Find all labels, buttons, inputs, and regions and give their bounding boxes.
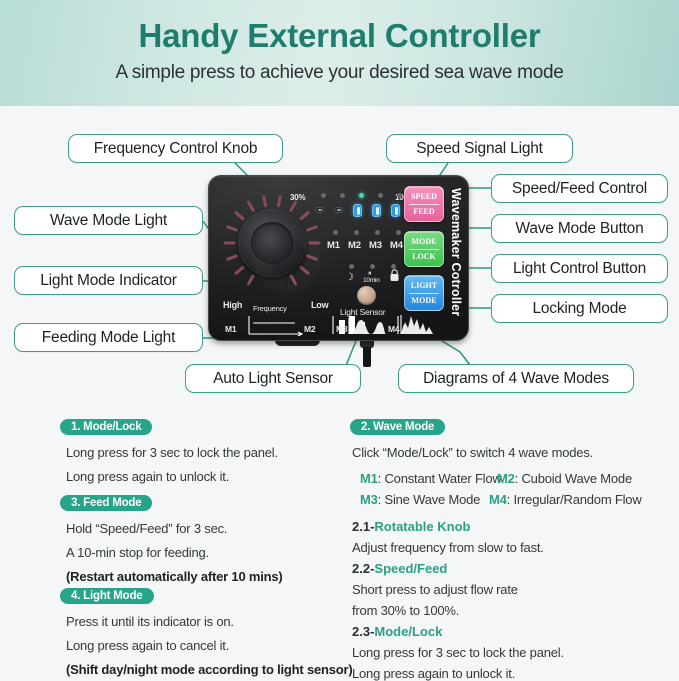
callout-auto-light-sensor[interactable]: Auto Light Sensor (185, 364, 361, 393)
speed-led-3 (359, 193, 364, 198)
subsection-heading-speed-feed: 2.2-Speed/Feed (352, 561, 447, 576)
subsection-number: 2.2- (352, 561, 374, 576)
instruction-line: Short press to adjust flow rate (352, 582, 518, 597)
speed-bar-3 (353, 204, 362, 217)
wave-mode-key: M2 (497, 471, 515, 486)
wave-diagram-label-m2: M2 (304, 324, 315, 334)
status-led-light-mode (349, 264, 354, 269)
light-sensor (357, 286, 376, 305)
callout-locking-mode[interactable]: Locking Mode (491, 294, 668, 323)
moon-icon: ☽ (345, 272, 354, 283)
instruction-badge-feed-mode: 3. Feed Mode (60, 495, 152, 511)
callout-label: Light Control Button (513, 260, 646, 278)
callout-light-control-button[interactable]: Light Control Button (491, 254, 668, 283)
wave-diagram-label-m3: M3 (336, 324, 347, 334)
mode-lock-button[interactable]: MODE LOCK (404, 231, 444, 267)
frequency-knob-assembly[interactable] (223, 194, 321, 292)
mode-label-m2: M2 (348, 240, 361, 251)
speed-bar-1 (315, 207, 324, 213)
button-divider (409, 293, 439, 294)
mode-led-m1 (333, 230, 338, 235)
callout-label: Locking Mode (532, 300, 626, 318)
button-divider (409, 249, 439, 250)
speed-led-4 (378, 193, 383, 198)
subsection-heading-mode-lock: 2.3-Mode/Lock (352, 624, 442, 639)
wave-diagram-m3-curve (347, 312, 387, 336)
wavemaker-controller-device: High Frequency Low 30% 100% M1 M2 M3 M4 … (208, 175, 469, 341)
mode-led-m4 (396, 230, 401, 235)
instruction-badge-wave-mode: 2. Wave Mode (350, 419, 445, 435)
callout-light-mode-indicator[interactable]: Light Mode Indicator (14, 266, 203, 295)
speed-feed-button-bottom: FEED (413, 206, 434, 218)
instruction-line: A 10-min stop for feeding. (66, 545, 209, 560)
instruction-line: Adjust frequency from slow to fast. (352, 540, 544, 555)
page-subtitle: A simple press to achieve your desired s… (0, 62, 679, 84)
wave-mode-desc: : Constant Water Flow (378, 471, 502, 486)
wave-mode-desc: : Cuboid Wave Mode (515, 471, 632, 486)
wave-mode-m4: M4: Irregular/Random Flow (489, 492, 642, 507)
button-divider (409, 204, 439, 205)
device-cable (363, 347, 371, 367)
speed-scale-min-label: 30% (290, 193, 305, 202)
wave-mode-key: M1 (360, 471, 378, 486)
wave-mode-m2: M2: Cuboid Wave Mode (497, 471, 632, 486)
callout-label: Wave Mode Button (515, 220, 643, 238)
mode-label-m4: M4 (390, 240, 403, 251)
light-mode-button[interactable]: LIGHT MODE (404, 275, 444, 311)
instruction-badge-light-mode: 4. Light Mode (60, 588, 154, 604)
speed-bar-5 (391, 204, 400, 217)
wave-mode-desc: : Sine Wave Mode (378, 492, 481, 507)
wave-diagram-label-m1: M1 (225, 324, 236, 334)
instruction-line: Long press for 3 sec to lock the panel. (352, 645, 564, 660)
wave-mode-desc: : Irregular/Random Flow (507, 492, 642, 507)
instruction-line: Long press again to cancel it. (66, 638, 229, 653)
callout-diagrams-of-4-wave-modes[interactable]: Diagrams of 4 Wave Modes (398, 364, 634, 393)
speed-led-1 (321, 193, 326, 198)
instruction-line: (Restart automatically after 10 mins) (66, 569, 283, 584)
subsection-number: 2.1- (352, 519, 374, 534)
callout-feeding-mode-light[interactable]: Feeding Mode Light (14, 323, 203, 352)
instruction-line: (Shift day/night mode according to light… (66, 662, 353, 677)
wave-mode-m1: M1: Constant Water Flow (360, 471, 502, 486)
callout-label: Feeding Mode Light (42, 329, 175, 347)
callout-label: Wave Mode Light (50, 212, 167, 230)
frequency-knob[interactable] (238, 209, 306, 277)
wave-mode-m3: M3: Sine Wave Mode (360, 492, 480, 507)
callout-label: Light Mode Indicator (40, 272, 176, 290)
callout-wave-mode-button[interactable]: Wave Mode Button (491, 214, 668, 243)
light-mode-button-bottom: MODE (412, 295, 437, 307)
instruction-line: Long press again to unlock it. (66, 469, 229, 484)
speed-feed-button-top: SPEED (411, 191, 437, 203)
callout-speed-feed-control[interactable]: Speed/Feed Control (491, 174, 668, 203)
callout-label: Frequency Control Knob (94, 140, 258, 158)
knob-center (251, 222, 293, 264)
callout-speed-signal-light[interactable]: Speed Signal Light (386, 134, 573, 163)
mode-lock-button-top: MODE (412, 236, 437, 248)
instruction-line: Hold “Speed/Feed” for 3 sec. (66, 521, 227, 536)
callout-frequency-control-knob[interactable]: Frequency Control Knob (68, 134, 283, 163)
wave-mode-key: M4 (489, 492, 507, 507)
instruction-line: Click “Mode/Lock” to switch 4 wave modes… (352, 445, 593, 460)
speed-led-5 (397, 193, 402, 198)
mode-label-m3: M3 (369, 240, 382, 251)
speed-feed-button[interactable]: SPEED FEED (404, 186, 444, 222)
callout-label: Speed/Feed Control (512, 180, 647, 198)
instruction-badge-mode-lock: 1. Mode/Lock (60, 419, 152, 435)
lock-icon (389, 269, 400, 282)
device-brand-label: Wavemaker Cotroller (449, 188, 463, 316)
wave-diagram-label-m4: M4 (388, 324, 399, 334)
subsection-name: Rotatable Knob (374, 519, 470, 534)
instruction-line: Press it until its indicator is on. (66, 614, 234, 629)
page-root: Handy External Controller A simple press… (0, 0, 679, 679)
subsection-name: Speed/Feed (374, 561, 447, 576)
callout-label: Speed Signal Light (416, 140, 543, 158)
subsection-number: 2.3- (352, 624, 374, 639)
subsection-name: Mode/Lock (374, 624, 442, 639)
wave-mode-key: M3 (360, 492, 378, 507)
status-led-feed-mode (370, 264, 375, 269)
callout-wave-mode-light[interactable]: Wave Mode Light (14, 206, 203, 235)
instruction-line: from 30% to 100%. (352, 603, 459, 618)
speed-led-2 (340, 193, 345, 198)
mode-led-m3 (375, 230, 380, 235)
light-mode-button-top: LIGHT (411, 280, 437, 292)
callout-label: Diagrams of 4 Wave Modes (423, 370, 609, 388)
page-title: Handy External Controller (0, 17, 679, 55)
wave-diagram-m4-curve (399, 310, 441, 336)
speed-bar-4 (372, 204, 381, 217)
instruction-line: Long press for 3 sec to lock the panel. (66, 445, 278, 460)
speed-bar-2 (334, 207, 343, 213)
feed-timer-label: 10min (363, 277, 380, 284)
callout-label: Auto Light Sensor (213, 370, 333, 388)
mode-lock-button-bottom: LOCK (412, 251, 436, 263)
page-header: Handy External Controller A simple press… (0, 0, 679, 106)
mode-label-m1: M1 (327, 240, 340, 251)
mode-led-m2 (354, 230, 359, 235)
subsection-heading-rotatable-knob: 2.1-Rotatable Knob (352, 519, 470, 534)
